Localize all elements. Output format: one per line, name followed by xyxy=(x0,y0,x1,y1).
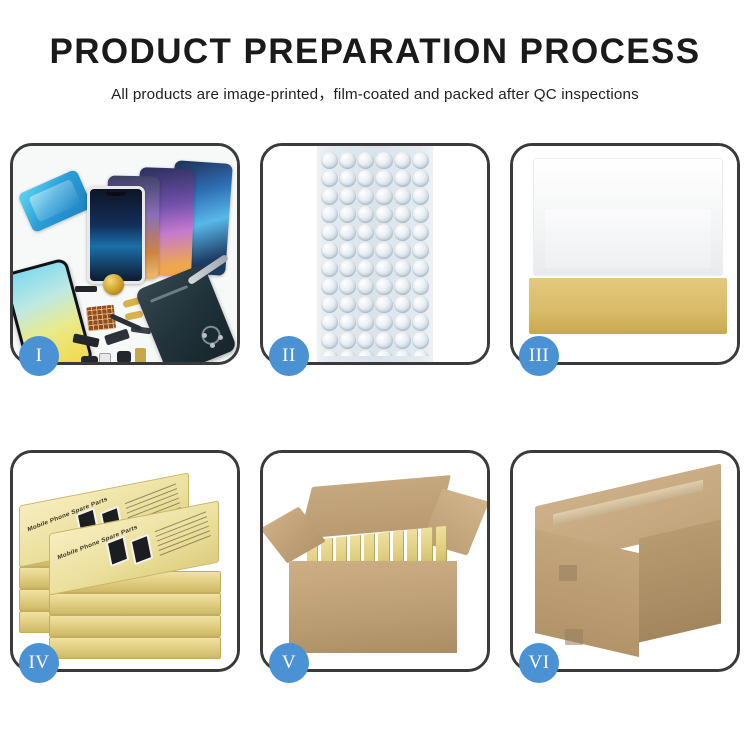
spare-part xyxy=(104,329,130,346)
step-6-image xyxy=(513,453,737,669)
bubble xyxy=(321,206,338,223)
bubble xyxy=(375,206,392,223)
bubble xyxy=(375,152,392,169)
bubble xyxy=(412,152,429,169)
screw xyxy=(202,333,207,338)
white-box-lid xyxy=(533,158,723,276)
bubble xyxy=(394,170,411,187)
box-stack: Mobile Phone Spare Parts Mobile Phone Sp… xyxy=(17,467,237,667)
bubble xyxy=(357,170,374,187)
bubble-grid xyxy=(321,152,429,356)
bubble xyxy=(394,242,411,259)
sealed-carton-side xyxy=(639,520,721,643)
screw xyxy=(218,335,223,340)
bubble xyxy=(321,296,338,313)
step-1-image xyxy=(13,146,237,362)
carton-tab xyxy=(559,565,577,581)
spare-part xyxy=(99,353,111,362)
step-badge-4: IV xyxy=(19,643,59,683)
process-step-6: VI xyxy=(510,450,740,672)
bubble xyxy=(339,260,356,277)
screw xyxy=(210,343,215,348)
sealed-carton-front xyxy=(535,529,639,657)
bubble xyxy=(412,260,429,277)
bubble xyxy=(412,314,429,331)
bubble xyxy=(412,350,429,356)
gold-coil-part xyxy=(103,274,124,295)
bubble xyxy=(357,206,374,223)
bubble xyxy=(412,242,429,259)
bubble xyxy=(375,170,392,187)
bubble xyxy=(357,224,374,241)
process-step-4: Mobile Phone Spare Parts Mobile Phone Sp… xyxy=(10,450,240,672)
carton-body xyxy=(289,561,457,653)
bubble xyxy=(321,278,338,295)
bubble xyxy=(357,152,374,169)
carton-tab xyxy=(565,629,583,645)
bubble xyxy=(339,152,356,169)
stacked-box xyxy=(49,593,221,615)
step-4-image: Mobile Phone Spare Parts Mobile Phone Sp… xyxy=(13,453,237,669)
bubble xyxy=(321,242,338,259)
bubble xyxy=(394,224,411,241)
bubble xyxy=(339,296,356,313)
page-subtitle: All products are image-printed，film-coat… xyxy=(0,82,750,104)
bubble xyxy=(412,206,429,223)
bubble xyxy=(394,332,411,349)
spare-part xyxy=(81,356,98,362)
header: PRODUCT PREPARATION PROCESS All products… xyxy=(0,0,750,104)
bubble xyxy=(321,260,338,277)
process-step-1: I xyxy=(10,143,240,365)
step-3-image xyxy=(513,146,737,362)
bubble xyxy=(357,296,374,313)
bubble xyxy=(375,296,392,313)
bubble xyxy=(394,206,411,223)
box-phone-graphic xyxy=(106,535,130,567)
box-spec-lines xyxy=(155,511,213,567)
bubble xyxy=(357,278,374,295)
bubble xyxy=(339,242,356,259)
bubble xyxy=(339,332,356,349)
bubble xyxy=(339,170,356,187)
step-badge-5: V xyxy=(269,643,309,683)
bubble xyxy=(357,260,374,277)
bubble-wrap-strip xyxy=(317,146,433,362)
adhesive-film-part xyxy=(17,169,93,233)
bubble xyxy=(412,278,429,295)
bubble xyxy=(394,350,411,356)
phone-notch xyxy=(106,192,126,196)
bubble xyxy=(321,332,338,349)
bubble xyxy=(394,278,411,295)
bubble xyxy=(357,350,374,356)
product-preparation-infographic: PRODUCT PREPARATION PROCESS All products… xyxy=(0,0,750,750)
spare-part xyxy=(75,286,97,292)
step-badge-3: III xyxy=(519,336,559,376)
bubble xyxy=(375,224,392,241)
bubble xyxy=(339,314,356,331)
bubble xyxy=(394,296,411,313)
process-step-3: III xyxy=(510,143,740,365)
bubble xyxy=(394,260,411,277)
bubble xyxy=(339,278,356,295)
kraft-box-body xyxy=(529,278,727,334)
step-2-image xyxy=(263,146,487,362)
process-step-5: V xyxy=(260,450,490,672)
bubble xyxy=(339,188,356,205)
phone-display-front xyxy=(87,186,145,284)
bubble xyxy=(375,188,392,205)
bubble xyxy=(321,188,338,205)
step-badge-1: I xyxy=(19,336,59,376)
bubble xyxy=(321,170,338,187)
bubble xyxy=(412,296,429,313)
bubble xyxy=(321,314,338,331)
process-step-grid: I II III xyxy=(10,143,740,672)
bubble xyxy=(412,188,429,205)
bubble xyxy=(339,224,356,241)
bubble xyxy=(394,314,411,331)
bubble xyxy=(412,224,429,241)
bubble xyxy=(321,224,338,241)
bubble xyxy=(339,206,356,223)
bubble xyxy=(339,350,356,356)
bubble xyxy=(375,314,392,331)
bubble xyxy=(375,350,392,356)
bubble xyxy=(375,242,392,259)
box-phone-graphic xyxy=(130,534,154,566)
step-badge-2: II xyxy=(269,336,309,376)
page-title: PRODUCT PREPARATION PROCESS xyxy=(0,34,750,71)
bubble xyxy=(321,350,338,356)
bubble xyxy=(357,332,374,349)
bubble xyxy=(412,170,429,187)
bubble xyxy=(375,278,392,295)
process-step-2: II xyxy=(260,143,490,365)
spare-part xyxy=(124,310,143,321)
bubble xyxy=(375,332,392,349)
stacked-box xyxy=(49,637,221,659)
bubble xyxy=(394,152,411,169)
stacked-box xyxy=(49,615,221,637)
bubble xyxy=(412,332,429,349)
step-badge-6: VI xyxy=(519,643,559,683)
spare-part xyxy=(135,348,146,362)
spare-part xyxy=(117,351,131,362)
step-5-image xyxy=(263,453,487,669)
bubble xyxy=(375,260,392,277)
bubble xyxy=(357,188,374,205)
bubble xyxy=(357,242,374,259)
bubble xyxy=(321,152,338,169)
bubble xyxy=(394,188,411,205)
bubble xyxy=(357,314,374,331)
